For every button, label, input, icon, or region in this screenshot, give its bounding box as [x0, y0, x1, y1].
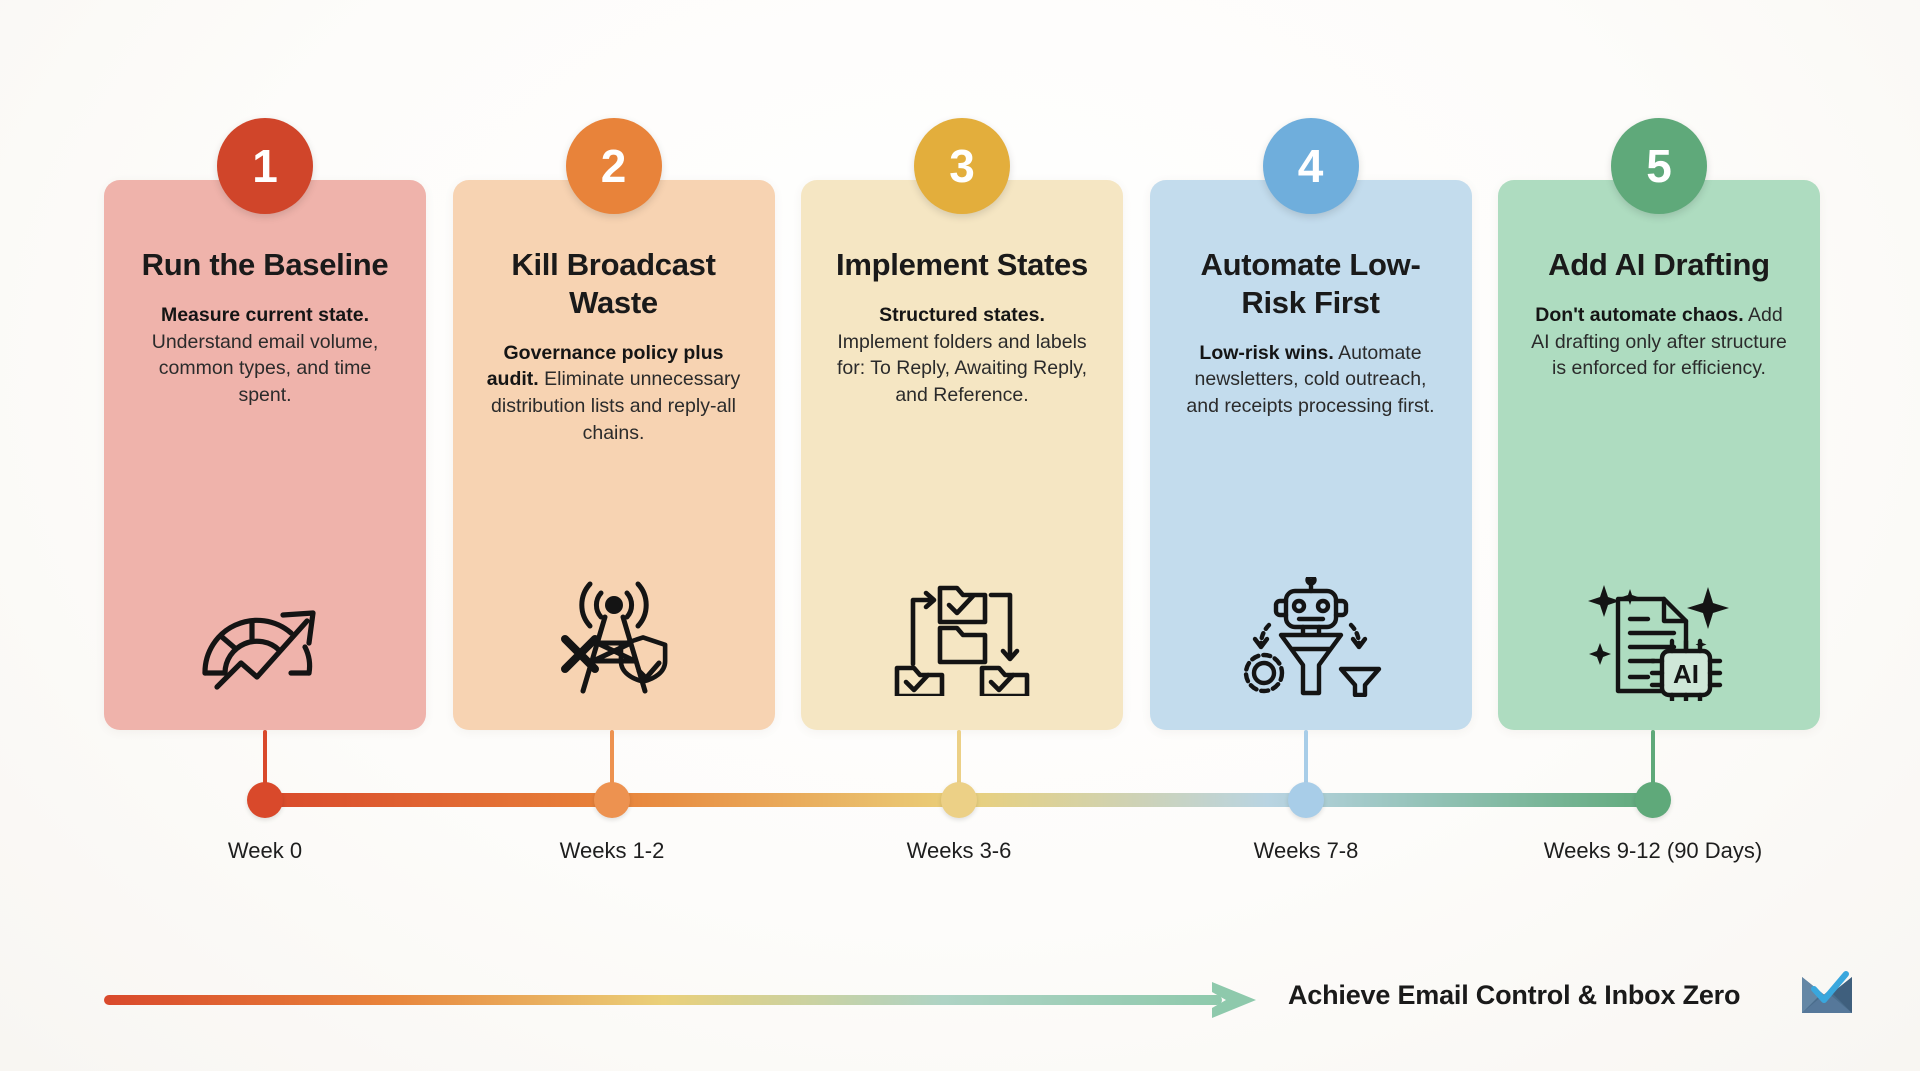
timeline-node-5[interactable] [1635, 782, 1671, 818]
step-card-2[interactable]: 2 Kill Broadcast Waste Governance policy… [453, 180, 775, 730]
step-title-1: Run the Baseline [128, 246, 402, 284]
step-body-1: Understand email volume, common types, a… [152, 331, 379, 406]
step-number-badge-5: 5 [1611, 118, 1707, 214]
broadcast-tower-blocked-icon [539, 572, 689, 702]
step-lead-1: Measure current state. [161, 304, 369, 326]
step-description-3: Structured states. Implement folders and… [825, 302, 1099, 409]
step-description-1: Measure current state. Understand email … [128, 302, 402, 409]
step-title-3: Implement States [825, 246, 1099, 284]
timeline-label-1: Week 0 [228, 838, 302, 864]
step-number-badge-3: 3 [914, 118, 1010, 214]
step-body-3: Implement folders and labels for: To Rep… [837, 331, 1087, 406]
timeline-node-1[interactable] [247, 782, 283, 818]
step-lead-4: Low-risk wins. [1199, 342, 1333, 364]
step-card-1[interactable]: 1 Run the Baseline Measure current state… [104, 180, 426, 730]
footer-banner-text: Achieve Email Control & Inbox Zero [1288, 980, 1740, 1011]
step-number-badge-1: 1 [217, 118, 313, 214]
step-card-5[interactable]: 5 Add AI Drafting Don't automate chaos. … [1498, 180, 1820, 730]
step-card-3[interactable]: 3 Implement States Structured states. Im… [801, 180, 1123, 730]
timeline-label-3: Weeks 3-6 [907, 838, 1012, 864]
timeline-label-2: Weeks 1-2 [560, 838, 665, 864]
timeline-label-4: Weeks 7-8 [1254, 838, 1359, 864]
email-check-icon [1800, 971, 1854, 1015]
timeline-label-5: Weeks 9-12 (90 Days) [1544, 838, 1762, 864]
timeline-node-3[interactable] [941, 782, 977, 818]
infographic-canvas: 1 Run the Baseline Measure current state… [0, 0, 1920, 1071]
step-lead-3: Structured states. [879, 304, 1045, 326]
step-description-5: Don't automate chaos. Add AI drafting on… [1522, 302, 1796, 382]
step-title-5: Add AI Drafting [1522, 246, 1796, 284]
step-title-4: Automate Low-Risk First [1174, 246, 1448, 322]
step-card-4[interactable]: 4 Automate Low-Risk First Low-risk wins.… [1150, 180, 1472, 730]
step-description-2: Governance policy plus audit. Eliminate … [477, 340, 751, 447]
step-title-2: Kill Broadcast Waste [477, 246, 751, 322]
step-number-badge-4: 4 [1263, 118, 1359, 214]
steps-row: 1 Run the Baseline Measure current state… [104, 180, 1820, 730]
gradient-right-arrow-icon [104, 978, 1264, 1022]
robot-funnel-icon [1236, 572, 1386, 702]
step-description-4: Low-risk wins. Automate newsletters, col… [1174, 340, 1448, 420]
ai-document-icon: AI [1584, 572, 1734, 702]
timeline-node-4[interactable] [1288, 782, 1324, 818]
timeline-node-2[interactable] [594, 782, 630, 818]
step-lead-5: Don't automate chaos. [1535, 304, 1743, 326]
svg-text:AI: AI [1673, 659, 1699, 689]
gauge-growth-icon [190, 572, 340, 702]
folder-workflow-icon [887, 572, 1037, 702]
step-number-badge-2: 2 [566, 118, 662, 214]
